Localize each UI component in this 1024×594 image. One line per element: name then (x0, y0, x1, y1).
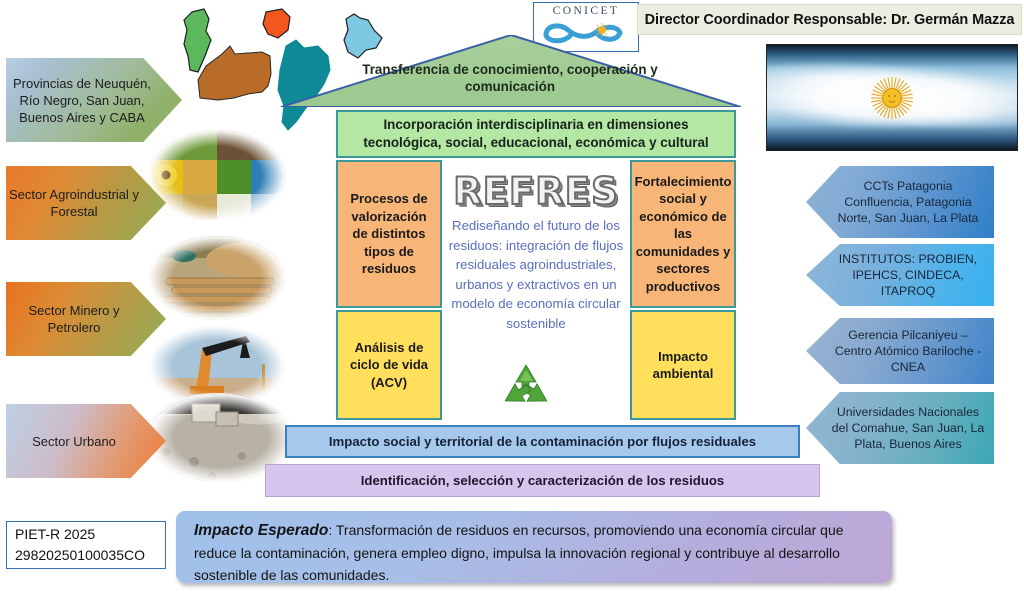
input-arrow-agroindustrial[interactable]: Sector Agroindustrial y Forestal (6, 166, 166, 240)
project-code-line2: 29820250100035CO (15, 545, 165, 566)
conicet-infinity-sun-icon (540, 17, 632, 45)
refres-subtitle: Rediseñando el futuro de los residuos: i… (444, 216, 628, 356)
institution-arrow-ccts[interactable]: CCTs Patagonia Confluencia, Patagonia No… (806, 166, 994, 238)
input-arrow-urbano-label: Sector Urbano (6, 433, 142, 450)
conicet-wordmark: CONICET (553, 5, 620, 17)
band-identificacion-residuos: Identificación, selección y caracterizac… (265, 464, 820, 497)
input-arrow-minero-label: Sector Minero y Petrolero (6, 302, 142, 336)
institution-arrow-institutos[interactable]: INSTITUTOS: PROBIEN, IPEHCS, CINDECA, IT… (806, 244, 994, 306)
project-code-line1: PIET-R 2025 (15, 524, 165, 545)
roof-label: Transferencia de conocimiento, cooperaci… (340, 58, 680, 98)
map-buenos-aires-icon (278, 40, 330, 130)
map-neuquen-icon (184, 9, 211, 72)
input-arrow-agroindustrial-label: Sector Agroindustrial y Forestal (6, 186, 142, 220)
sun-of-may-icon (869, 75, 915, 121)
band-interdisciplinaria: Incorporación interdisciplinaria en dime… (336, 110, 736, 158)
input-arrow-urbano[interactable]: Sector Urbano (6, 404, 166, 478)
argentina-flag-image (766, 44, 1018, 151)
project-code-box: PIET-R 2025 29820250100035CO (6, 521, 166, 569)
director-banner: Director Coordinador Responsable: Dr. Ge… (637, 4, 1022, 35)
pillar-procesos-valorizacion: Procesos de valorización de distintos ti… (336, 160, 442, 308)
map-rio-negro-icon (198, 46, 271, 100)
institution-arrow-universidades[interactable]: Universidades Nacionales del Comahue, Sa… (806, 392, 994, 464)
impacto-esperado-heading: Impacto Esperado (194, 522, 328, 539)
map-san-juan-icon (344, 14, 382, 58)
band-impacto-social-territorial: Impacto social y territorial de la conta… (285, 425, 800, 458)
pillar-fortalecimiento-social: Fortalecimiento social y económico de la… (630, 160, 736, 308)
input-arrow-provincias-label: Provincias de Neuquén, Río Negro, San Ju… (6, 75, 158, 126)
conicet-logo: CONICET (533, 2, 639, 52)
refres-title: REFRES (444, 170, 628, 212)
pillar-impacto-ambiental: Impacto ambiental (630, 310, 736, 420)
map-caba-icon (263, 9, 290, 38)
input-arrow-minero[interactable]: Sector Minero y Petrolero (6, 282, 166, 356)
recycle-icon (496, 362, 556, 416)
impacto-esperado-panel: Impacto Esperado: Transformación de resi… (176, 511, 892, 583)
pillar-analisis-ciclo-vida: Análisis de ciclo de vida (ACV) (336, 310, 442, 420)
institution-arrow-gerencia-cnea[interactable]: Gerencia Pilcaniyeu – Centro Atómico Bar… (806, 318, 994, 384)
